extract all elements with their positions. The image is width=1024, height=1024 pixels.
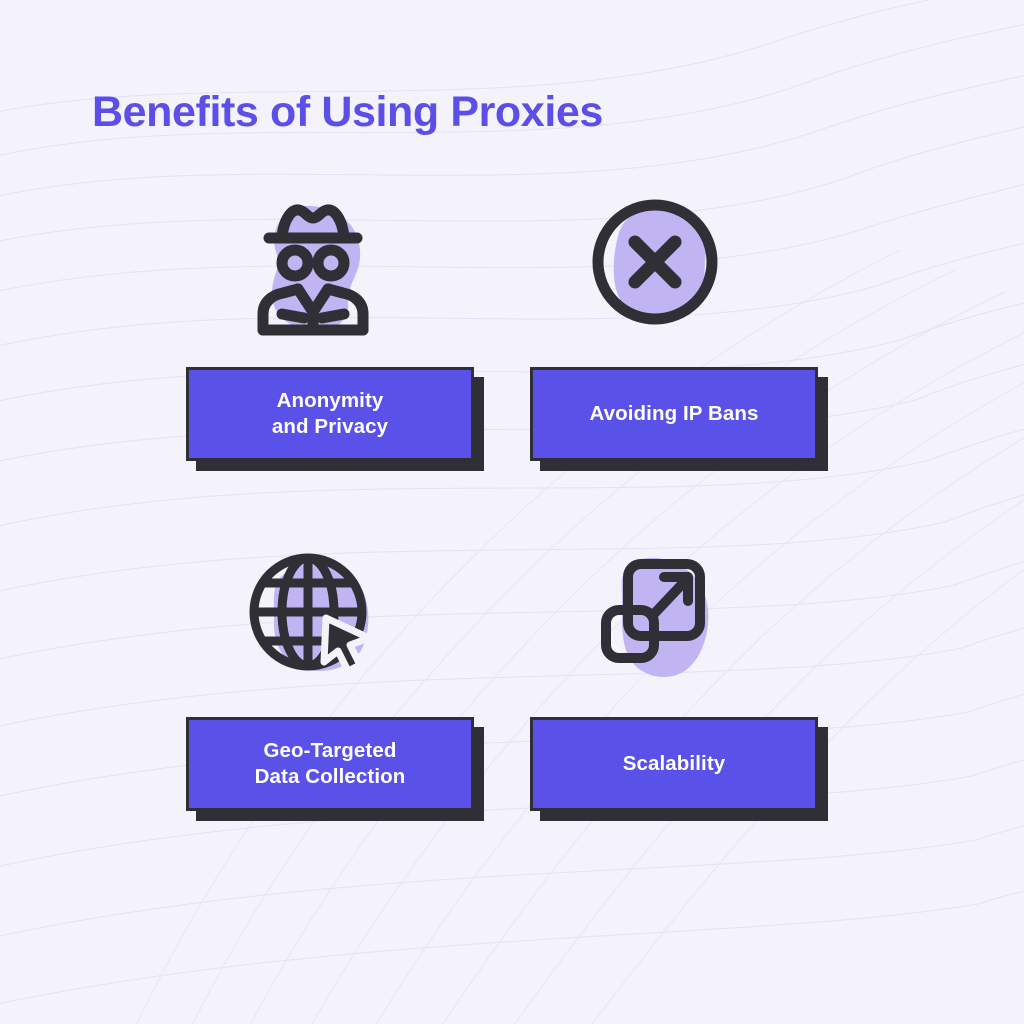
resize-expand-icon [512,525,802,700]
card-face[interactable]: Geo-Targeted Data Collection [186,717,474,811]
benefit-item-avoiding-ip-bans: Avoiding IP Bans [512,175,856,525]
benefit-label: Scalability [623,751,726,777]
benefit-label: Anonymity and Privacy [272,388,388,440]
card-face[interactable]: Anonymity and Privacy [186,367,474,461]
benefit-card-anonymity[interactable]: Anonymity and Privacy [186,367,474,461]
globe-cursor-icon [168,525,458,700]
circle-x-icon [512,175,802,350]
benefit-item-geo-targeted: Geo-Targeted Data Collection [168,525,512,875]
benefits-grid: Anonymity and Privacy Avoiding IP Bans [0,175,1024,875]
benefit-card-scalability[interactable]: Scalability [530,717,818,811]
benefit-label: Geo-Targeted Data Collection [255,738,406,790]
benefit-item-scalability: Scalability [512,525,856,875]
spy-incognito-icon [168,175,458,350]
card-face[interactable]: Scalability [530,717,818,811]
benefit-card-avoiding-ip-bans[interactable]: Avoiding IP Bans [530,367,818,461]
card-face[interactable]: Avoiding IP Bans [530,367,818,461]
benefit-label: Avoiding IP Bans [589,401,758,427]
page-title: Benefits of Using Proxies [92,88,603,137]
benefit-item-anonymity: Anonymity and Privacy [168,175,512,525]
benefit-card-geo-targeted[interactable]: Geo-Targeted Data Collection [186,717,474,811]
